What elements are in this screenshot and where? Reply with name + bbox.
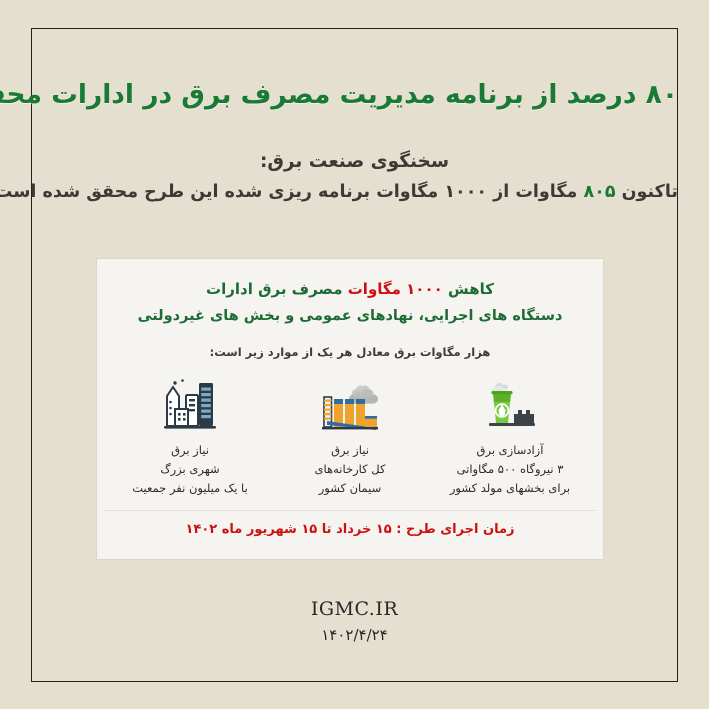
publish-date: ۱۴۰۲/۴/۲۴ bbox=[31, 624, 678, 647]
card-divider bbox=[105, 510, 595, 511]
equivalence-caption-cement: نیاز برق کل کارخانه‌های سیمان کشور bbox=[272, 441, 428, 498]
equivalence-columns: نیاز برق شهری بزرگ با یک میلیون نفر جمعی… bbox=[97, 373, 603, 498]
caption-line-3: با یک میلیون نفر جمعیت bbox=[112, 479, 268, 498]
equivalence-column-cement: نیاز برق کل کارخانه‌های سیمان کشور bbox=[270, 373, 430, 498]
caption-line-1: آزادسازی برق bbox=[432, 441, 588, 460]
subtitle-megawatt-value: ۸۰۵ bbox=[583, 182, 615, 202]
card-header-suffix: مصرف برق ادارات bbox=[206, 280, 348, 298]
subtitle-statement-suffix: مگاوات از ۱۰۰۰ مگاوات برنامه ریزی شده ای… bbox=[0, 182, 583, 202]
caption-line-3: برای بخشهای مولد کشور bbox=[432, 479, 588, 498]
card-header-prefix: کاهش bbox=[443, 280, 494, 298]
page-title: ۸۰ درصد از برنامه مدیریت مصرف برق در ادا… bbox=[31, 78, 678, 111]
equivalence-column-city: نیاز برق شهری بزرگ با یک میلیون نفر جمعی… bbox=[110, 373, 270, 498]
equivalence-column-powerplant: آزادسازی برق ۳ نیروگاه ۵۰۰ مگاواتی برای … bbox=[430, 373, 590, 498]
caption-line-2: شهری بزرگ bbox=[112, 460, 268, 479]
info-card: کاهش ۱۰۰۰ مگاوات مصرف برق ادارات دستگاه … bbox=[97, 259, 603, 559]
subtitle-statement: تاکنون ۸۰۵ مگاوات از ۱۰۰۰ مگاوات برنامه … bbox=[31, 176, 678, 209]
subtitle-block: سخنگوی صنعت برق: تاکنون ۸۰۵ مگاوات از ۱۰… bbox=[31, 148, 678, 209]
caption-line-1: نیاز برق bbox=[112, 441, 268, 460]
cement-factory-icon bbox=[272, 373, 428, 435]
card-header: کاهش ۱۰۰۰ مگاوات مصرف برق ادارات دستگاه … bbox=[97, 259, 603, 329]
caption-line-2: کل کارخانه‌های bbox=[272, 460, 428, 479]
caption-line-2: ۳ نیروگاه ۵۰۰ مگاواتی bbox=[432, 460, 588, 479]
caption-line-1: نیاز برق bbox=[272, 441, 428, 460]
equivalence-caption-city: نیاز برق شهری بزرگ با یک میلیون نفر جمعی… bbox=[112, 441, 268, 498]
equivalence-caption-powerplant: آزادسازی برق ۳ نیروگاه ۵۰۰ مگاواتی برای … bbox=[432, 441, 588, 498]
subtitle-statement-prefix: تاکنون bbox=[616, 182, 678, 202]
card-header-secondary: دستگاه های اجرایی، نهادهای عمومی و بخش ه… bbox=[97, 303, 603, 329]
caption-line-3: سیمان کشور bbox=[272, 479, 428, 498]
power-plant-icon bbox=[432, 373, 588, 435]
credits-block: IGMC.IR ۱۴۰۲/۴/۲۴ bbox=[31, 596, 678, 646]
site-url: IGMC.IR bbox=[31, 596, 678, 624]
card-header-primary: کاهش ۱۰۰۰ مگاوات مصرف برق ادارات bbox=[97, 277, 603, 303]
card-description: هزار مگاوات برق معادل هر یک از موارد زیر… bbox=[97, 345, 603, 359]
subtitle-speaker: سخنگوی صنعت برق: bbox=[31, 148, 678, 176]
city-buildings-icon bbox=[112, 373, 268, 435]
implementation-period-bar: زمان اجرای طرح : ۱۵ خرداد تا ۱۵ شهریور م… bbox=[97, 522, 603, 537]
card-header-highlight: ۱۰۰۰ مگاوات bbox=[348, 280, 443, 298]
